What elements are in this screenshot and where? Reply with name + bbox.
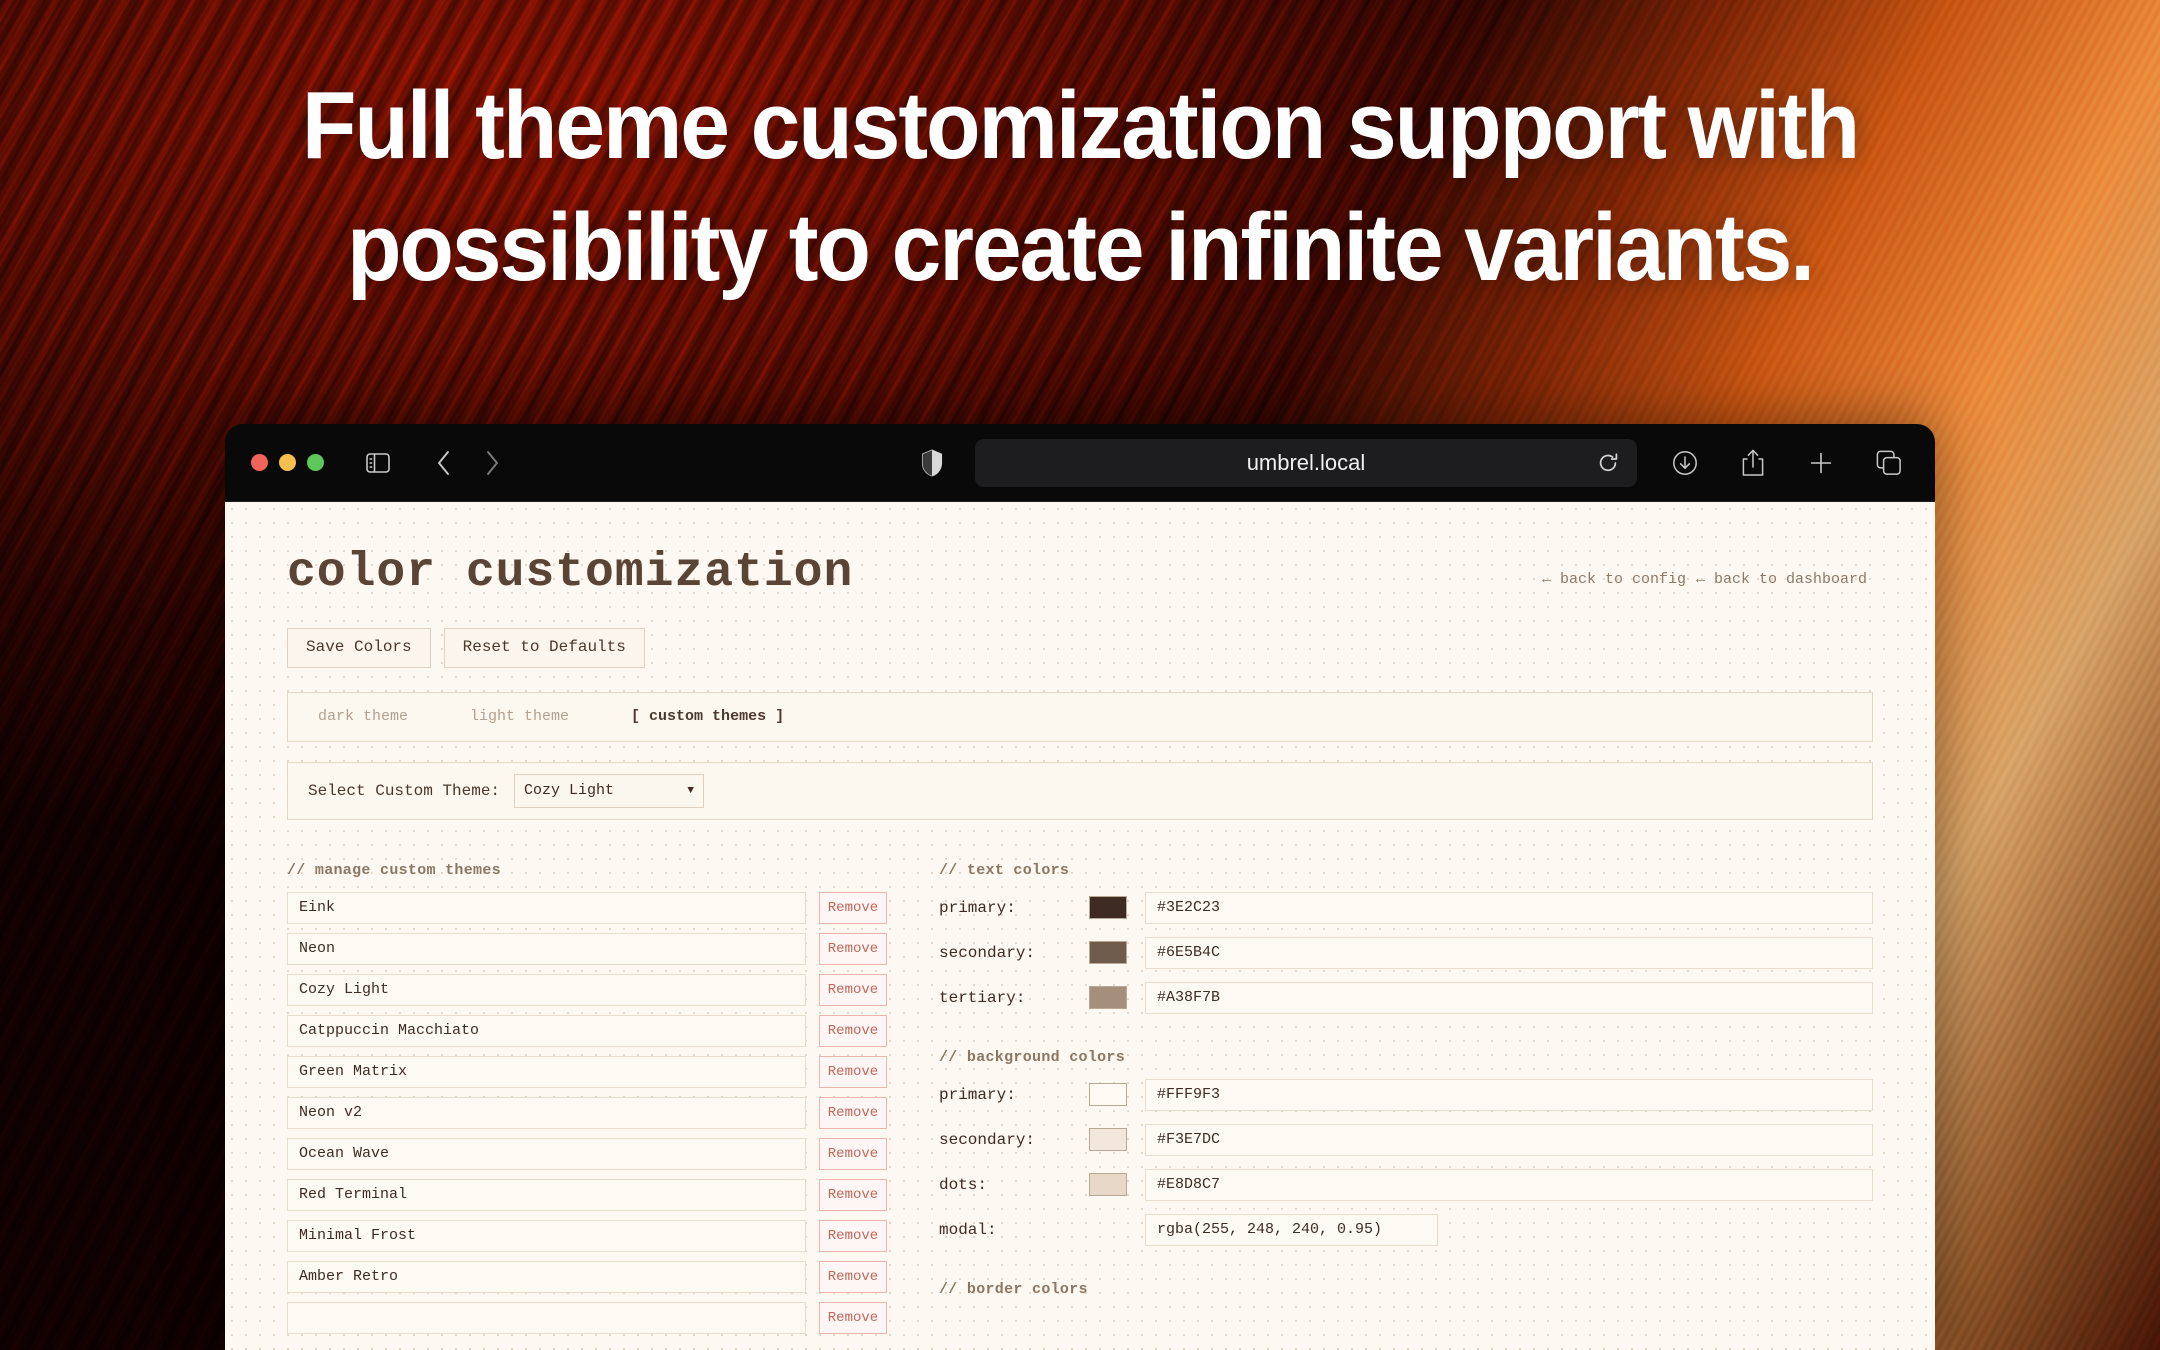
theme-row: NeonRemove <box>287 933 887 965</box>
text-colors-label: // text colors <box>939 862 1873 879</box>
background-colors-list: primary:#FFF9F3secondary:#F3E7DCdots:#E8… <box>939 1079 1873 1246</box>
section-gap-1 <box>939 1027 1873 1049</box>
color-settings-column: // text colors primary:#3E2C23secondary:… <box>939 862 1873 1343</box>
theme-row: Amber RetroRemove <box>287 1261 887 1293</box>
theme-name-input[interactable]: Ocean Wave <box>287 1138 806 1170</box>
color-row: secondary:#F3E7DC <box>939 1124 1873 1156</box>
url-text: umbrel.local <box>1247 450 1366 476</box>
color-value-input[interactable]: #3E2C23 <box>1145 892 1873 924</box>
chevron-left-icon[interactable] <box>424 443 464 483</box>
tab-custom-themes[interactable]: [ custom themes ] <box>631 708 784 725</box>
theme-row: Neon v2Remove <box>287 1097 887 1129</box>
color-value-input[interactable]: #6E5B4C <box>1145 937 1873 969</box>
color-label: dots: <box>939 1176 1089 1194</box>
window-controls <box>251 454 324 471</box>
navigation-buttons <box>424 443 512 483</box>
web-page-content: color customization ← back to config ← b… <box>225 502 1935 1350</box>
theme-name-input[interactable]: Eink <box>287 892 806 924</box>
page-header: color customization ← back to config ← b… <box>287 546 1873 600</box>
page-title: color customization <box>287 546 853 600</box>
theme-list: EinkRemoveNeonRemoveCozy LightRemoveCatp… <box>287 892 887 1334</box>
manage-themes-label: // manage custom themes <box>287 862 887 879</box>
color-swatch[interactable] <box>1089 1173 1127 1196</box>
theme-name-input[interactable]: Red Terminal <box>287 1179 806 1211</box>
color-row: primary:#3E2C23 <box>939 892 1873 924</box>
color-swatch[interactable] <box>1089 1128 1127 1151</box>
color-swatch[interactable] <box>1089 896 1127 919</box>
color-label: primary: <box>939 1086 1089 1104</box>
reset-to-defaults-button[interactable]: Reset to Defaults <box>444 628 645 668</box>
reload-icon[interactable] <box>1593 448 1623 478</box>
remove-theme-button[interactable]: Remove <box>819 974 887 1006</box>
color-row: dots:#E8D8C7 <box>939 1169 1873 1201</box>
theme-row: Red TerminalRemove <box>287 1179 887 1211</box>
address-bar[interactable]: umbrel.local <box>975 439 1637 487</box>
color-value-input[interactable]: #E8D8C7 <box>1145 1169 1873 1201</box>
browser-window: umbrel.local <box>225 424 1935 1350</box>
tab-overview-icon[interactable] <box>1869 443 1909 483</box>
remove-theme-button[interactable]: Remove <box>819 1220 887 1252</box>
theme-selector-value: Cozy Light <box>524 782 614 799</box>
color-swatch[interactable] <box>1089 941 1127 964</box>
remove-theme-button[interactable]: Remove <box>819 1138 887 1170</box>
color-label: secondary: <box>939 944 1089 962</box>
minimize-button[interactable] <box>279 454 296 471</box>
theme-name-input[interactable]: Neon v2 <box>287 1097 806 1129</box>
settings-columns: // manage custom themes EinkRemoveNeonRe… <box>287 862 1873 1343</box>
section-gap-2 <box>939 1259 1873 1281</box>
headline-line-2: possibility to create infinite variants. <box>76 200 2085 296</box>
color-row: tertiary:#A38F7B <box>939 982 1873 1014</box>
theme-row: Ocean WaveRemove <box>287 1138 887 1170</box>
remove-theme-button[interactable]: Remove <box>819 1097 887 1129</box>
color-value-input[interactable]: rgba(255, 248, 240, 0.95) <box>1145 1214 1438 1246</box>
color-row: secondary:#6E5B4C <box>939 937 1873 969</box>
theme-tabs: dark theme light theme [ custom themes ] <box>287 692 1873 742</box>
color-label: primary: <box>939 899 1089 917</box>
theme-name-input[interactable]: Minimal Frost <box>287 1220 806 1252</box>
browser-toolbar: umbrel.local <box>225 424 1935 502</box>
breadcrumb: ← back to config ← back to dashboard <box>1542 571 1867 600</box>
theme-name-input[interactable]: Amber Retro <box>287 1261 806 1293</box>
theme-row: Green MatrixRemove <box>287 1056 887 1088</box>
background-colors-label: // background colors <box>939 1049 1873 1066</box>
promo-headline: Full theme customization support with po… <box>76 78 2085 296</box>
color-label: tertiary: <box>939 989 1089 1007</box>
remove-theme-button[interactable]: Remove <box>819 933 887 965</box>
tab-dark-theme[interactable]: dark theme <box>318 708 408 725</box>
text-colors-list: primary:#3E2C23secondary:#6E5B4Ctertiary… <box>939 892 1873 1014</box>
chevron-right-icon[interactable] <box>472 443 512 483</box>
theme-row: Catppuccin MacchiatoRemove <box>287 1015 887 1047</box>
theme-name-input[interactable] <box>287 1302 806 1334</box>
action-buttons: Save Colors Reset to Defaults <box>287 628 1873 668</box>
remove-theme-button[interactable]: Remove <box>819 1302 887 1334</box>
theme-name-input[interactable]: Catppuccin Macchiato <box>287 1015 806 1047</box>
shield-icon[interactable] <box>912 443 952 483</box>
manage-themes-column: // manage custom themes EinkRemoveNeonRe… <box>287 862 887 1343</box>
border-colors-label: // border colors <box>939 1281 1873 1298</box>
color-row: modal:rgba(255, 248, 240, 0.95) <box>939 1214 1873 1246</box>
theme-selector-bar: Select Custom Theme: Cozy Light ▼ <box>287 762 1873 820</box>
remove-theme-button[interactable]: Remove <box>819 1261 887 1293</box>
remove-theme-button[interactable]: Remove <box>819 1015 887 1047</box>
theme-name-input[interactable]: Green Matrix <box>287 1056 806 1088</box>
plus-icon[interactable] <box>1801 443 1841 483</box>
theme-selector-dropdown[interactable]: Cozy Light ▼ <box>514 774 704 808</box>
download-icon[interactable] <box>1665 443 1705 483</box>
remove-theme-button[interactable]: Remove <box>819 892 887 924</box>
color-swatch[interactable] <box>1089 986 1127 1009</box>
theme-row: Minimal FrostRemove <box>287 1220 887 1252</box>
theme-row: Cozy LightRemove <box>287 974 887 1006</box>
remove-theme-button[interactable]: Remove <box>819 1056 887 1088</box>
theme-name-input[interactable]: Cozy Light <box>287 974 806 1006</box>
chevron-down-icon: ▼ <box>687 785 694 797</box>
share-icon[interactable] <box>1733 443 1773 483</box>
tab-light-theme[interactable]: light theme <box>470 708 569 725</box>
color-swatch[interactable] <box>1089 1083 1127 1106</box>
back-to-config-link[interactable]: ← back to config <box>1542 571 1686 588</box>
color-label: secondary: <box>939 1131 1089 1149</box>
back-to-dashboard-link[interactable]: ← back to dashboard <box>1696 571 1867 588</box>
toolbar-right-actions <box>1665 443 1909 483</box>
save-colors-button[interactable]: Save Colors <box>287 628 431 668</box>
headline-line-1: Full theme customization support with <box>302 72 1858 179</box>
color-value-input[interactable]: #FFF9F3 <box>1145 1079 1873 1111</box>
sidebar-icon[interactable] <box>358 443 398 483</box>
theme-selector-label: Select Custom Theme: <box>308 782 500 800</box>
color-label: modal: <box>939 1221 1089 1239</box>
maximize-button[interactable] <box>307 454 324 471</box>
theme-row: EinkRemove <box>287 892 887 924</box>
color-row: primary:#FFF9F3 <box>939 1079 1873 1111</box>
remove-theme-button[interactable]: Remove <box>819 1179 887 1211</box>
color-value-input[interactable]: #A38F7B <box>1145 982 1873 1014</box>
theme-row: Remove <box>287 1302 887 1334</box>
close-button[interactable] <box>251 454 268 471</box>
color-value-input[interactable]: #F3E7DC <box>1145 1124 1873 1156</box>
theme-name-input[interactable]: Neon <box>287 933 806 965</box>
